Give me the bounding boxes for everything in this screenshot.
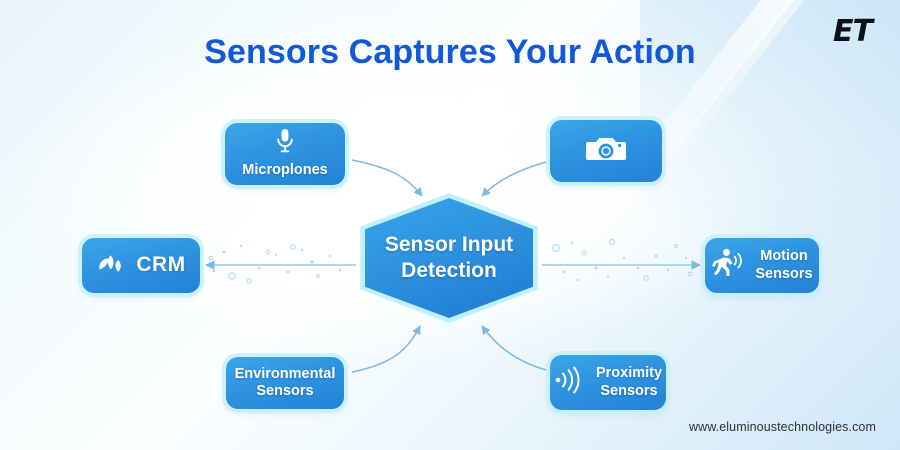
camera-icon [586,134,626,169]
footer-website-url: www.eluminoustechnologies.com [689,420,876,434]
node-microphones[interactable]: Microplones [225,123,345,185]
bubble-dots-right [563,242,688,281]
connector-camera-to-center [482,162,546,196]
running-person-motion-icon [711,247,745,284]
node-crm[interactable]: CRM [82,238,200,293]
signal-waves-icon [554,365,586,400]
node-proximity-sensors-label: Proximity Sensors [596,365,662,399]
bubble-dots-left [213,245,342,274]
bubble-particles-right [553,239,692,280]
node-camera[interactable] [550,120,662,182]
node-crm-label: CRM [136,253,185,278]
node-environmental-sensors-label: Environmental Sensors [235,366,336,400]
connector-environmental-to-center [352,326,420,372]
node-proximity-sensors[interactable]: Proximity Sensors [550,355,666,410]
node-environmental-sensors[interactable]: Environmental Sensors [226,357,344,409]
center-node-sensor-input-detection[interactable]: Sensor Input Detection [360,193,538,323]
connector-microphones-to-center [352,160,422,196]
microphone-icon [275,128,295,159]
center-node-label: Sensor Input Detection [360,193,538,323]
node-motion-sensors[interactable]: Motion Sensors [705,238,819,293]
connector-proximity-to-center [482,326,546,370]
node-microphones-label: Microplones [242,162,327,179]
infographic-canvas: ET Sensors Captures Your Action [0,0,900,450]
node-motion-sensors-label: Motion Sensors [755,248,812,282]
leaf-drop-icon [96,249,126,282]
